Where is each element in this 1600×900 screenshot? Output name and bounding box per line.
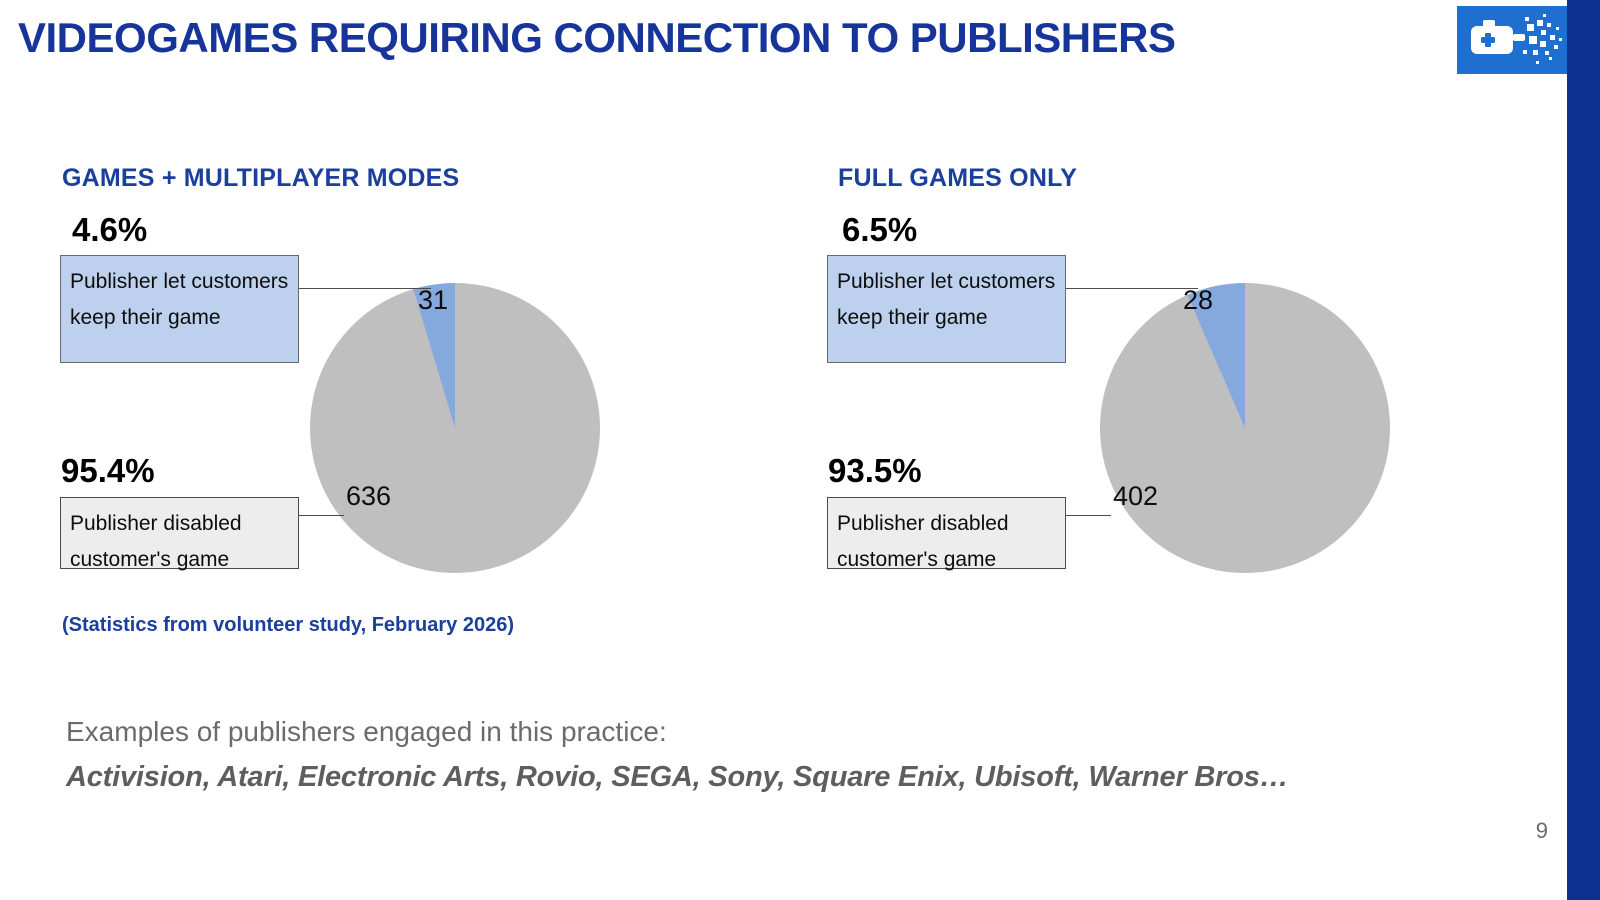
gray-leader-line — [299, 515, 344, 516]
blue-leader-line — [1066, 288, 1198, 289]
gray-slice-percentage: 95.4% — [61, 452, 155, 490]
blue-leader-line — [299, 288, 431, 289]
gray-slice-callout: Publisher disabled customer's game — [827, 497, 1066, 569]
gray-slice-callout: Publisher disabled customer's game — [60, 497, 299, 569]
gray-slice-value: 636 — [346, 481, 391, 512]
blue-slice-value: 28 — [1183, 285, 1213, 316]
gray-slice-value: 402 — [1113, 481, 1158, 512]
examples-intro-text: Examples of publishers engaged in this p… — [66, 716, 667, 748]
publisher-examples-list: Activision, Atari, Electronic Arts, Rovi… — [66, 761, 1288, 794]
blue-slice-callout: Publisher let customers keep their game — [60, 255, 299, 363]
statistics-footnote: (Statistics from volunteer study, Februa… — [62, 614, 514, 637]
page-number: 9 — [1512, 818, 1548, 844]
pie-chart-full-games-only — [1100, 283, 1390, 573]
blue-slice-callout: Publisher let customers keep their game — [827, 255, 1066, 363]
blue-slice-percentage: 6.5% — [842, 211, 917, 249]
gray-leader-line — [1066, 515, 1111, 516]
pie-chart-games-multiplayer — [310, 283, 600, 573]
panel-heading: FULL GAMES ONLY — [838, 164, 1077, 193]
right-edge-stripe — [1567, 0, 1600, 900]
panel-heading: GAMES + MULTIPLAYER MODES — [62, 164, 459, 193]
gray-slice-percentage: 93.5% — [828, 452, 922, 490]
blue-slice-value: 31 — [418, 285, 448, 316]
blue-slice-percentage: 4.6% — [72, 211, 147, 249]
